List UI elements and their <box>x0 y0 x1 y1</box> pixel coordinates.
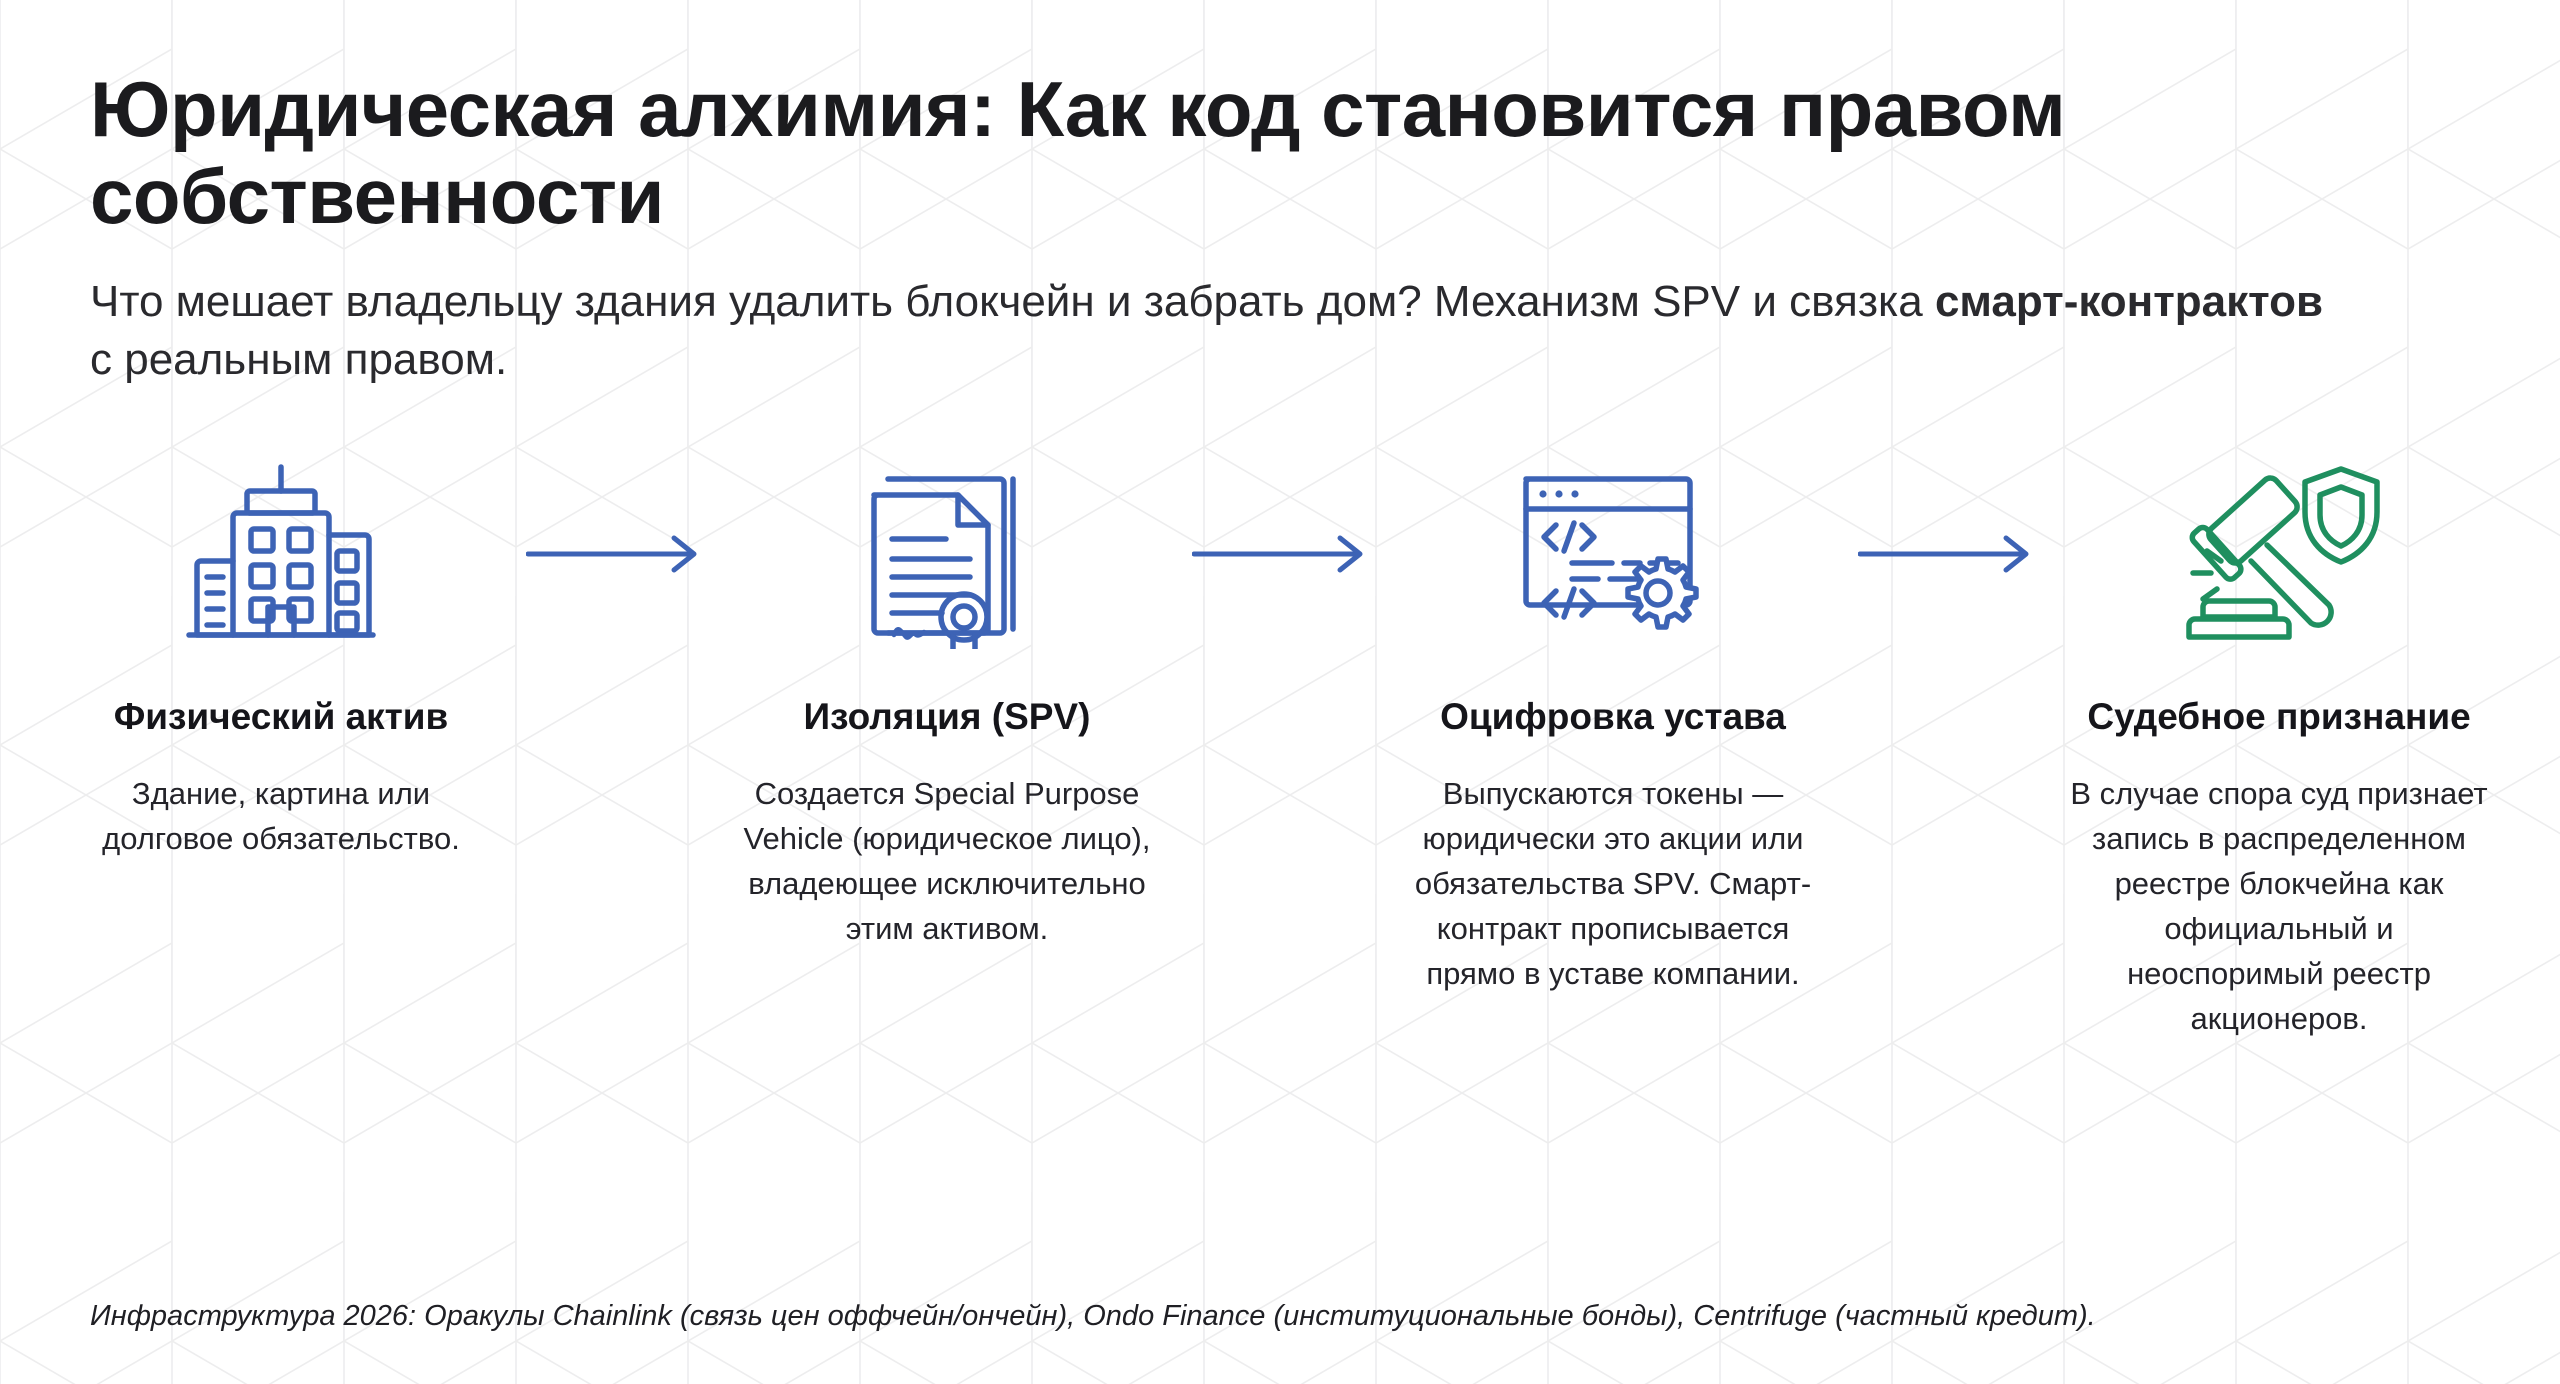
subtitle-emphasis: смарт-контрактов <box>1935 277 2323 326</box>
flow-step-judicial-recognition: Судебное признание В случае спора суд пр… <box>2039 454 2519 1042</box>
office-building-icon <box>186 454 376 654</box>
flow-step-body: Создается Special Purpose Vehicle (юриди… <box>737 772 1157 952</box>
flow-step-title: Оцифровка устава <box>1440 696 1786 739</box>
flow-step-title: Физический актив <box>114 696 449 739</box>
flow-step-title: Судебное признание <box>2087 696 2470 739</box>
flow-step-physical-asset: Физический актив Здание, картина или дол… <box>41 454 521 862</box>
code-window-gear-icon <box>1518 454 1708 654</box>
gavel-shield-icon <box>2169 454 2389 654</box>
page-title: Юридическая алхимия: Как код становится … <box>90 66 2290 241</box>
process-flow: Физический актив Здание, картина или дол… <box>90 454 2470 1299</box>
slide-root: Юридическая алхимия: Как код становится … <box>0 0 2560 1384</box>
subtitle-text-after: с реальным правом. <box>90 335 507 384</box>
flow-step-spv-isolation: Изоляция (SPV) Создается Special Purpose… <box>707 454 1187 952</box>
flow-step-body: Выпускаются токены — юридически это акци… <box>1403 772 1823 997</box>
footer-note: Инфраструктура 2026: Оракулы Chainlink (… <box>90 1298 2470 1384</box>
arrow-right-icon <box>1187 454 1373 654</box>
flow-step-charter-digitization: Оцифровка устава Выпускаются токены — юр… <box>1373 454 1853 997</box>
subtitle-text-before: Что мешает владельцу здания удалить блок… <box>90 277 1935 326</box>
flow-step-body: Здание, картина или долговое обязательст… <box>71 772 491 862</box>
header: Юридическая алхимия: Как код становится … <box>90 66 2470 390</box>
certificate-document-icon <box>864 454 1030 654</box>
arrow-right-icon <box>521 454 707 654</box>
flow-step-title: Изоляция (SPV) <box>804 696 1091 739</box>
flow-step-body: В случае спора суд признает запись в рас… <box>2069 772 2489 1042</box>
page-subtitle: Что мешает владельцу здания удалить блок… <box>90 273 2330 390</box>
arrow-right-icon <box>1853 454 2039 654</box>
